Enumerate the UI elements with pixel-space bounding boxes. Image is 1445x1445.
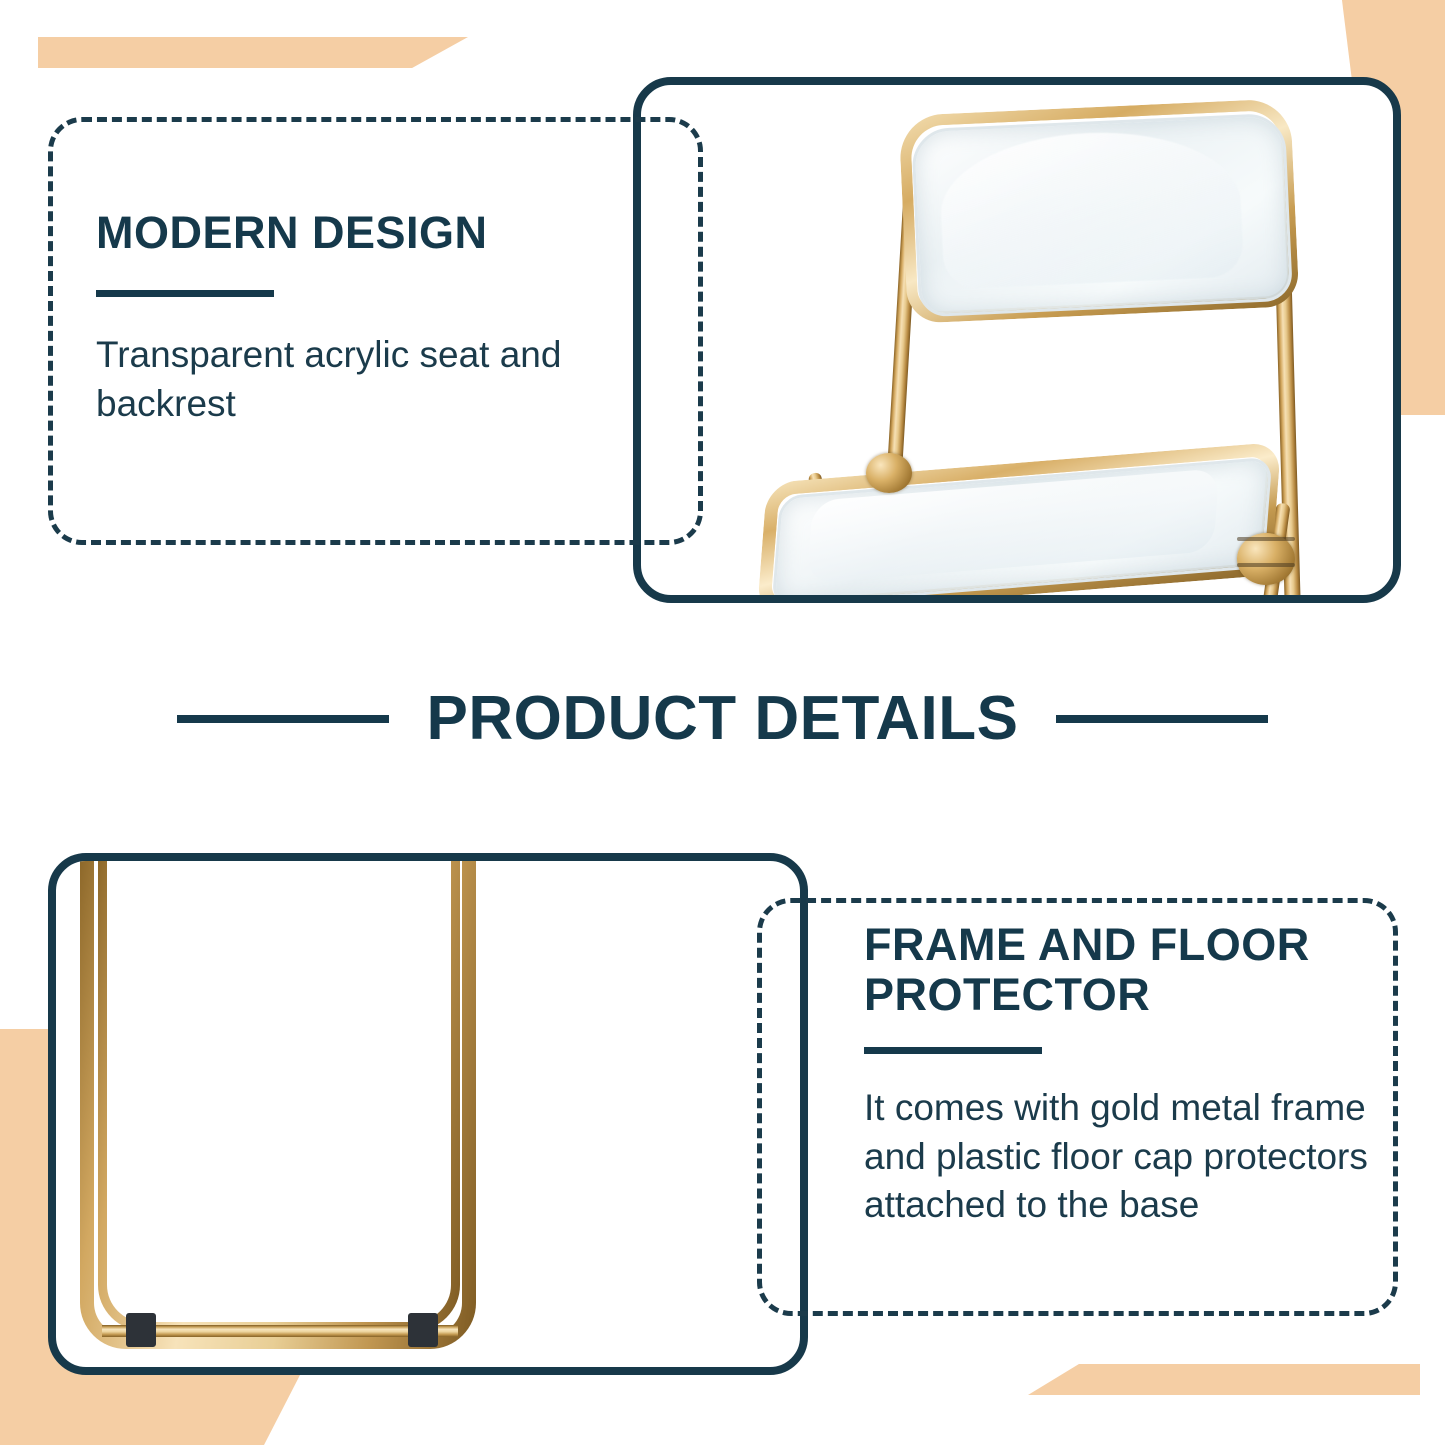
page-title: PRODUCT DETAILS [427, 683, 1019, 754]
frame-floor-divider [864, 1047, 1042, 1054]
frame-photo-card [48, 853, 808, 1375]
decor-peach-bottom-right [1028, 1364, 1420, 1395]
chair-photo-card [633, 77, 1401, 603]
chair-hinge-band-b [1237, 563, 1295, 567]
modern-design-divider [96, 290, 274, 297]
modern-design-text-block: MODERN DESIGN Transparent acrylic seat a… [96, 208, 566, 429]
frame-illustration [56, 861, 800, 1367]
heading-rule-left [177, 715, 389, 723]
frame-front-leg-inner [98, 853, 460, 1331]
modern-design-body: Transparent acrylic seat and backrest [96, 331, 566, 429]
section-heading-group: PRODUCT DETAILS [0, 683, 1445, 754]
chair-hinge-left [866, 453, 912, 493]
frame-floor-cap-front-left [126, 1313, 156, 1347]
frame-floor-title: FRAME AND FLOOR PROTECTOR [864, 920, 1384, 1021]
infographic-canvas: MODERN DESIGN Transparent acrylic seat a… [0, 0, 1445, 1445]
chair-hinge-band-a [1237, 537, 1295, 541]
decor-peach-top-left [38, 37, 468, 68]
frame-floor-cap-front-right [408, 1313, 438, 1347]
frame-floor-text-block: FRAME AND FLOOR PROTECTOR It comes with … [864, 920, 1384, 1230]
chair-illustration [641, 85, 1393, 595]
decor-peach-bottom-left-strip [0, 1375, 300, 1445]
heading-rule-right [1056, 715, 1268, 723]
frame-floor-body: It comes with gold metal frame and plast… [864, 1084, 1384, 1230]
modern-design-title: MODERN DESIGN [96, 208, 566, 258]
